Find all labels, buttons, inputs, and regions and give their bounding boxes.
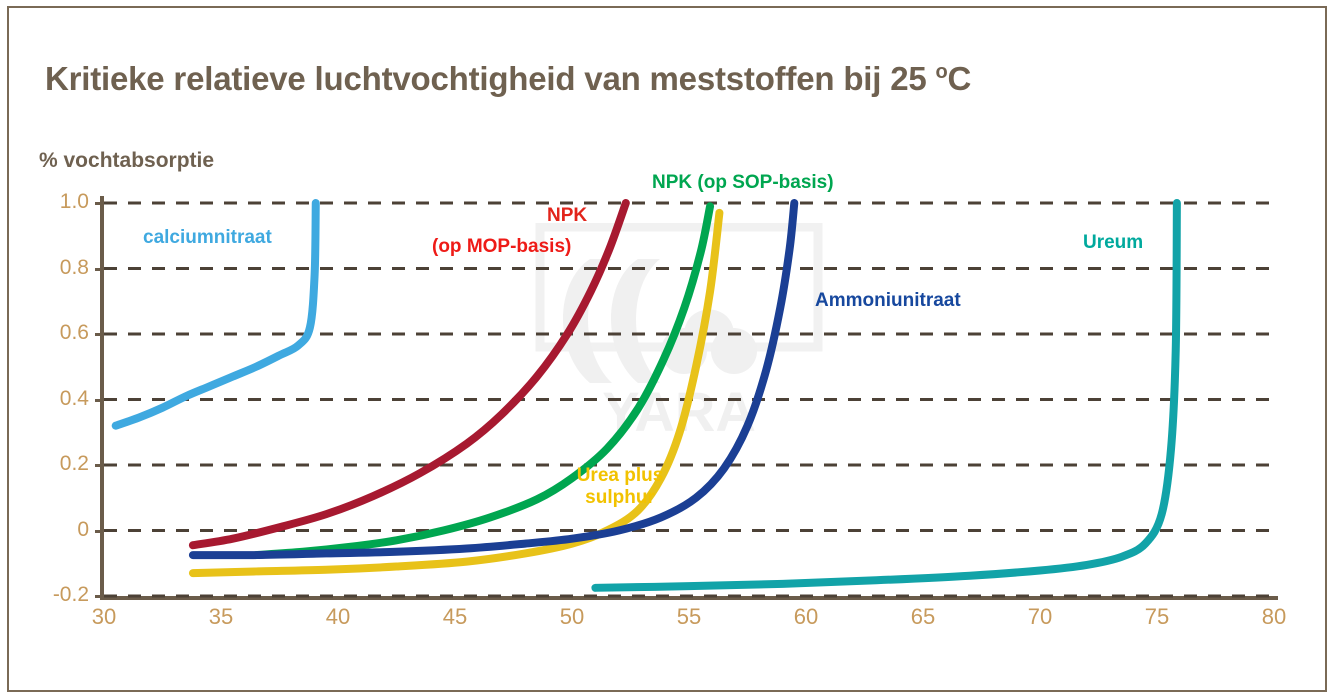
- series-line-urea-plus-sulphur: [193, 213, 720, 573]
- title-degree-symbol: o: [935, 61, 947, 83]
- plot-svg: [104, 203, 1274, 596]
- x-tick-label: 40: [326, 604, 350, 629]
- y-tick-label: 0.2: [60, 452, 89, 476]
- y-tick-mark: [95, 333, 104, 336]
- chart-frame: Kritieke relatieve luchtvochtigheid van …: [7, 6, 1327, 692]
- y-tick: 0.6: [9, 321, 89, 345]
- y-tick: 0.4: [9, 387, 89, 411]
- x-tick-label: 30: [92, 604, 116, 629]
- x-tick: 70: [1010, 604, 1070, 632]
- y-tick-label: 0.6: [60, 321, 89, 345]
- x-tick: 40: [308, 604, 368, 632]
- series-label-ureum: Ureum: [1083, 232, 1143, 254]
- y-tick: 1.0: [9, 190, 89, 214]
- x-tick: 30: [74, 604, 134, 632]
- x-tick-label: 70: [1028, 604, 1052, 629]
- x-tick-label: 65: [911, 604, 935, 629]
- x-tick-label: 60: [794, 604, 818, 629]
- y-tick: 0.2: [9, 452, 89, 476]
- page-title: Kritieke relatieve luchtvochtigheid van …: [45, 60, 971, 98]
- series-label-calciumnitraat: calciumnitraat: [143, 227, 272, 249]
- x-tick: 50: [542, 604, 602, 632]
- x-tick: 60: [776, 604, 836, 632]
- title-unit: C: [948, 60, 972, 97]
- y-tick-label: 0.8: [60, 256, 89, 280]
- y-tick-mark: [95, 399, 104, 402]
- title-main: Kritieke relatieve luchtvochtigheid van …: [45, 60, 935, 97]
- y-tick-label: 1.0: [60, 190, 89, 214]
- y-tick-label: 0: [77, 518, 89, 542]
- x-tick: 35: [191, 604, 251, 632]
- y-tick-mark: [95, 202, 104, 205]
- y-axis-label: % vochtabsorptie: [39, 149, 214, 173]
- y-tick-mark: [95, 268, 104, 271]
- x-tick-label: 50: [560, 604, 584, 629]
- x-tick: 65: [893, 604, 953, 632]
- y-tick: 0: [9, 518, 89, 542]
- series-label-npk-mop-line1: NPK: [547, 205, 587, 227]
- y-tick-mark: [95, 595, 104, 598]
- x-tick: 55: [659, 604, 719, 632]
- y-tick-mark: [95, 464, 104, 467]
- series-label-ammoniumnitraat: Ammoniunitraat: [815, 290, 961, 312]
- x-tick: 75: [1127, 604, 1187, 632]
- y-tick: 0.8: [9, 256, 89, 280]
- x-tick: 80: [1244, 604, 1304, 632]
- series-label-urea-plus-sulphur: Urea plussulphur: [565, 465, 675, 510]
- series-label-npk-sop: NPK (op SOP-basis): [652, 172, 834, 194]
- x-tick-label: 45: [443, 604, 467, 629]
- y-tick-label: 0.4: [60, 387, 89, 411]
- series-label-npk-mop-line2: (op MOP-basis): [432, 236, 571, 258]
- x-tick-label: 35: [209, 604, 233, 629]
- y-tick-mark: [95, 530, 104, 533]
- screenshot-root: Kritieke relatieve luchtvochtigheid van …: [0, 0, 1334, 699]
- x-tick-label: 80: [1262, 604, 1286, 629]
- x-tick-label: 75: [1145, 604, 1169, 629]
- x-tick-label: 55: [677, 604, 701, 629]
- x-tick: 45: [425, 604, 485, 632]
- plot-area: [104, 203, 1274, 596]
